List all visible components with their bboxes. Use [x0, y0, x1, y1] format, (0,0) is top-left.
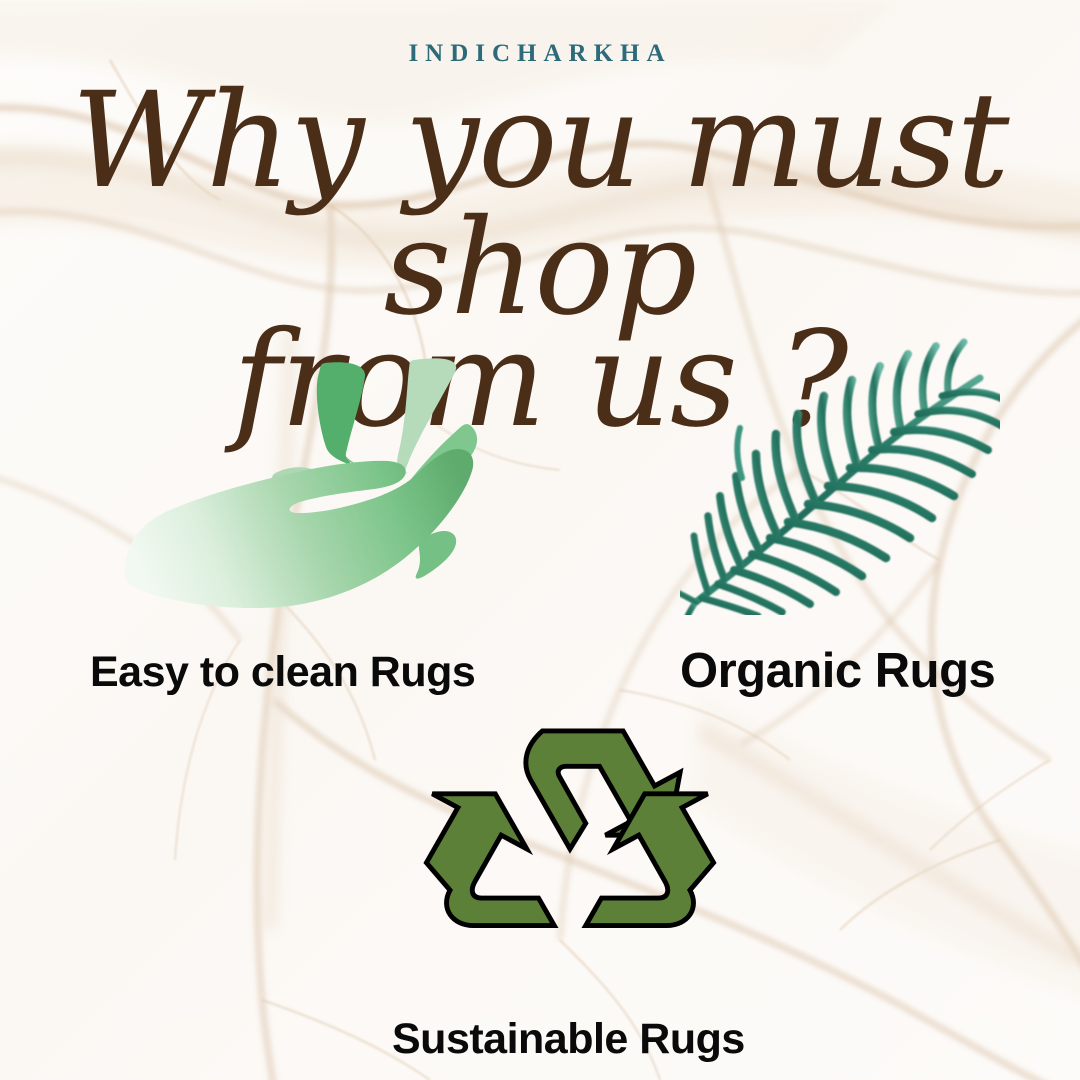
- feature-label-organic: Organic Rugs: [680, 643, 995, 699]
- feature-label-easy-to-clean: Easy to clean Rugs: [90, 648, 475, 697]
- hand-with-water-droplets-icon: [120, 345, 480, 625]
- recycle-symbol-icon: [420, 725, 720, 1020]
- headline-line-1: Why you must shop: [0, 78, 1080, 331]
- promo-poster: INDICHARKHA Why you must shop from us ?: [0, 0, 1080, 1080]
- fern-leaf-icon: [680, 330, 1000, 615]
- feature-label-sustainable: Sustainable Rugs: [392, 1015, 745, 1064]
